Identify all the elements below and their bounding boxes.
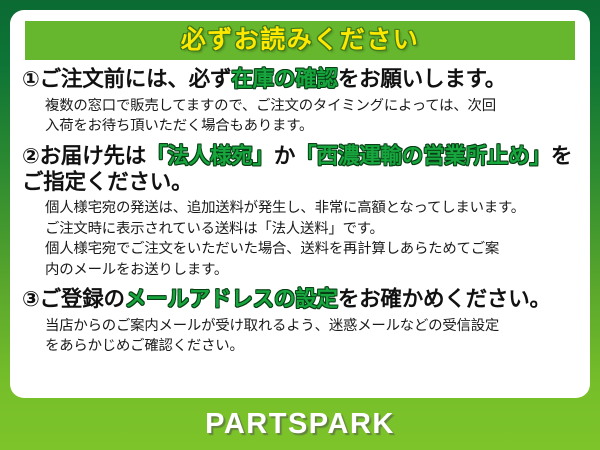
notice-item-2-text-b: か (274, 144, 295, 168)
notice-item-2-highlight-2: 「西濃運輸の営業所止め」 (295, 144, 551, 168)
notice-item-2-subline-1: 個人様宅宛の発送は、追加送料が発生し、非常に高額となってしまいます。 (45, 198, 580, 218)
notice-item-3-text-b: をお確かめください。 (338, 287, 551, 311)
notice-item-3-subline-1: 当店からのご案内メールが受け取れるよう、迷惑メールなどの受信設定 (45, 316, 580, 336)
notice-item-1-subline-1: 複数の窓口で販売してますので、ご注文のタイミングによっては、次回 (45, 96, 580, 116)
notice-item-3: ③ご登録のメールアドレスの設定をお確かめください。 当店からのご案内メールが受け… (10, 286, 590, 357)
notice-item-list: ①ご注文前には、必ず在庫の確認をお願いします。 複数の窓口で販売してますので、ご… (10, 66, 590, 357)
notice-item-1-subtext: 複数の窓口で販売してますので、ご注文のタイミングによっては、次回 入荷をお待ち頂… (22, 96, 580, 137)
notice-item-2-text-a: お届け先は (40, 144, 147, 168)
notice-item-1-subline-2: 入荷をお待ち頂いただく場合もあります。 (45, 116, 580, 136)
notice-item-1: ①ご注文前には、必ず在庫の確認をお願いします。 複数の窓口で販売してますので、ご… (10, 66, 590, 137)
notice-item-2-subline-4: 内のメールをお送りします。 (45, 260, 580, 280)
notice-item-2-subtext: 個人様宅宛の発送は、追加送料が発生し、非常に高額となってしまいます。 ご注文時に… (22, 198, 580, 280)
notice-item-3-subline-2: をあらかじめご確認ください。 (45, 336, 580, 356)
notice-item-3-headline: ③ご登録のメールアドレスの設定をお確かめください。 (22, 286, 580, 313)
notice-item-2: ②お届け先は「法人様宛」か「西濃運輸の営業所止め」をご指定ください。 個人様宅宛… (10, 143, 590, 281)
notice-item-2-headline: ②お届け先は「法人様宛」か「西濃運輸の営業所止め」をご指定ください。 (22, 143, 580, 196)
notice-item-3-highlight: メールアドレスの設定 (125, 287, 338, 311)
notice-card: 必ずお読みください ①ご注文前には、必ず在庫の確認をお願いします。 複数の窓口で… (10, 10, 590, 398)
title-text: 必ずお読みください (181, 28, 420, 53)
notice-item-3-number: ③ (22, 288, 40, 311)
notice-item-2-subline-3: 個人様宅宛でご注文をいただいた場合、送料を再計算しあらためてご案 (45, 239, 580, 259)
partspark-logo: PARTSPARK (205, 408, 395, 441)
notice-banner: 必ずお読みください ①ご注文前には、必ず在庫の確認をお願いします。 複数の窓口で… (0, 0, 600, 450)
notice-item-2-highlight-1: 「法人様宛」 (146, 144, 274, 168)
notice-item-1-text-b: をお願いします。 (338, 67, 506, 91)
title-banner: 必ずお読みください (25, 21, 575, 60)
notice-item-3-subtext: 当店からのご案内メールが受け取れるよう、迷惑メールなどの受信設定 をあらかじめご… (22, 316, 580, 357)
notice-item-3-text-a: ご登録の (40, 287, 125, 311)
notice-item-2-subline-2: ご注文時に表示されている送料は「法人送料」です。 (45, 219, 580, 239)
notice-item-1-headline: ①ご注文前には、必ず在庫の確認をお願いします。 (22, 66, 580, 93)
notice-item-2-number: ② (22, 145, 40, 168)
footer-bar: PARTSPARK (0, 398, 600, 450)
notice-item-1-number: ① (22, 68, 40, 91)
notice-item-1-text-a: ご注文前には、必ず (40, 67, 232, 91)
notice-item-1-highlight: 在庫の確認 (231, 67, 338, 91)
